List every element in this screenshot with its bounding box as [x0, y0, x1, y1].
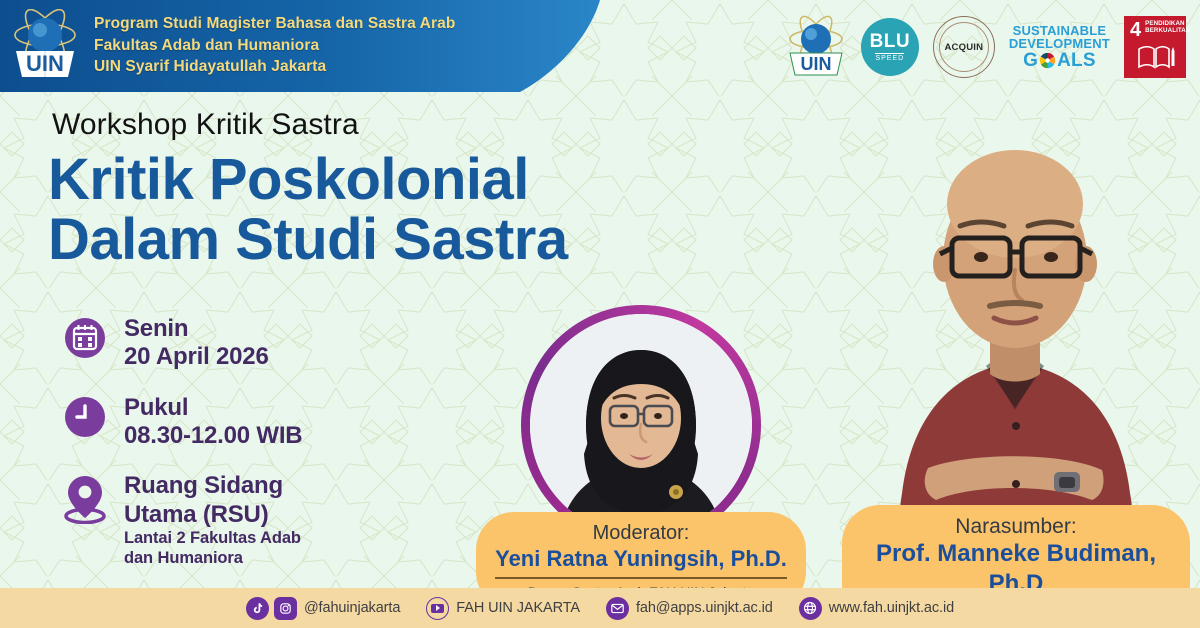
header-line-3: UIN Syarif Hidayatullah Jakarta [94, 57, 455, 77]
svg-text:UIN: UIN [26, 51, 64, 76]
sdg-wheel-icon [1039, 52, 1056, 69]
sdg-als: ALS [1057, 51, 1096, 71]
svg-text:UIN: UIN [800, 54, 831, 74]
book-pencil-icon [1130, 39, 1181, 75]
location-sub-1: Lantai 2 Fakultas Adab [124, 529, 301, 549]
moderator-photo-ring [521, 305, 761, 545]
email-address: fah@apps.uinjkt.ac.id [636, 600, 773, 616]
event-info-list: Senin 20 April 2026 Pukul 08.30-12.00 WI… [62, 315, 302, 590]
header-banner: UIN Program Studi Magister Bahasa dan Sa… [0, 0, 660, 92]
moderator-role: Moderator: [494, 521, 788, 545]
header-text-block: Program Studi Magister Bahasa dan Sastra… [94, 14, 455, 77]
footer-contact-bar: @fahuinjakarta FAH UIN JAKARTA fah@apps.… [0, 588, 1200, 628]
location-line-1: Ruang Sidang [124, 472, 301, 500]
clock-icon [62, 394, 108, 438]
uin-logo-small-icon: UIN [785, 15, 847, 79]
sdg-line-1: SUSTAINABLE [1013, 24, 1107, 38]
info-text-date: Senin 20 April 2026 [124, 315, 269, 372]
acquin-logo: ACQUIN [933, 16, 995, 78]
time-line-1: Pukul [124, 394, 302, 422]
info-row-time: Pukul 08.30-12.00 WIB [62, 394, 302, 451]
location-line-2: Utama (RSU) [124, 501, 301, 529]
sdg-line-2: DEVELOPMENT [1009, 37, 1110, 51]
date-line-2: 20 April 2026 [124, 343, 269, 371]
moderator-photo [530, 314, 752, 536]
sdg-logo: SUSTAINABLE DEVELOPMENT G ALS [1009, 24, 1110, 71]
acquin-label: ACQUIN [945, 42, 984, 53]
blu-logo: BLU SPEED [861, 18, 919, 76]
tiktok-icon[interactable] [246, 597, 269, 620]
title-line-2: Dalam Studi Sastra [48, 210, 568, 270]
kicker-text: Workshop Kritik Sastra [52, 108, 359, 142]
sdg4-label-1: PENDIDIKAN [1145, 20, 1185, 27]
info-row-location: Ruang Sidang Utama (RSU) Lantai 2 Fakult… [62, 472, 302, 568]
info-text-location: Ruang Sidang Utama (RSU) Lantai 2 Fakult… [124, 472, 301, 568]
sdg-line-3: G ALS [1023, 51, 1096, 71]
date-line-1: Senin [124, 315, 269, 343]
location-sub-2: dan Humaniora [124, 549, 301, 569]
poster-canvas: UIN Program Studi Magister Bahasa dan Sa… [0, 0, 1200, 628]
sdg-g: G [1023, 51, 1038, 71]
globe-icon[interactable] [799, 597, 822, 620]
blu-logo-sub: SPEED [875, 53, 904, 62]
website-url: www.fah.uinjkt.ac.id [829, 600, 954, 616]
instagram-icon[interactable] [274, 597, 297, 620]
title-line-1: Kritik Poskolonial [48, 147, 529, 212]
youtube-icon[interactable] [426, 597, 449, 620]
header-line-1: Program Studi Magister Bahasa dan Sastra… [94, 14, 455, 34]
location-pin-icon [62, 472, 108, 524]
youtube-handle: FAH UIN JAKARTA [456, 600, 580, 616]
calendar-icon [62, 315, 108, 359]
footer-item-email[interactable]: fah@apps.uinjkt.ac.id [606, 597, 773, 620]
footer-item-social[interactable]: @fahuinjakarta [246, 597, 400, 620]
sdg4-number: 4 [1130, 21, 1141, 39]
speaker-role: Narasumber: [860, 514, 1172, 539]
uin-logo-icon: UIN [8, 9, 82, 83]
info-row-date: Senin 20 April 2026 [62, 315, 302, 372]
social-handle: @fahuinjakarta [304, 600, 400, 616]
moderator-name: Yeni Ratna Yuningsih, Ph.D. [495, 545, 787, 579]
sdg4-label-2: BERKUALITAS [1145, 27, 1190, 34]
info-text-time: Pukul 08.30-12.00 WIB [124, 394, 302, 451]
page-title: Kritik Poskolonial Dalam Studi Sastra [48, 150, 568, 269]
email-icon[interactable] [606, 597, 629, 620]
time-line-2: 08.30-12.00 WIB [124, 422, 302, 450]
blu-logo-main: BLU [870, 32, 911, 51]
footer-item-youtube[interactable]: FAH UIN JAKARTA [426, 597, 580, 620]
sdg4-label: PENDIDIKAN BERKUALITAS [1145, 21, 1190, 35]
speaker-photo [840, 92, 1190, 522]
sdg-goal4-logo: 4 PENDIDIKAN BERKUALITAS [1124, 16, 1186, 78]
partner-logo-strip: UIN BLU SPEED ACQUIN SUSTAINABLE DEVELOP… [785, 10, 1186, 84]
footer-item-website[interactable]: www.fah.uinjkt.ac.id [799, 597, 954, 620]
header-line-2: Fakultas Adab dan Humaniora [94, 36, 455, 56]
